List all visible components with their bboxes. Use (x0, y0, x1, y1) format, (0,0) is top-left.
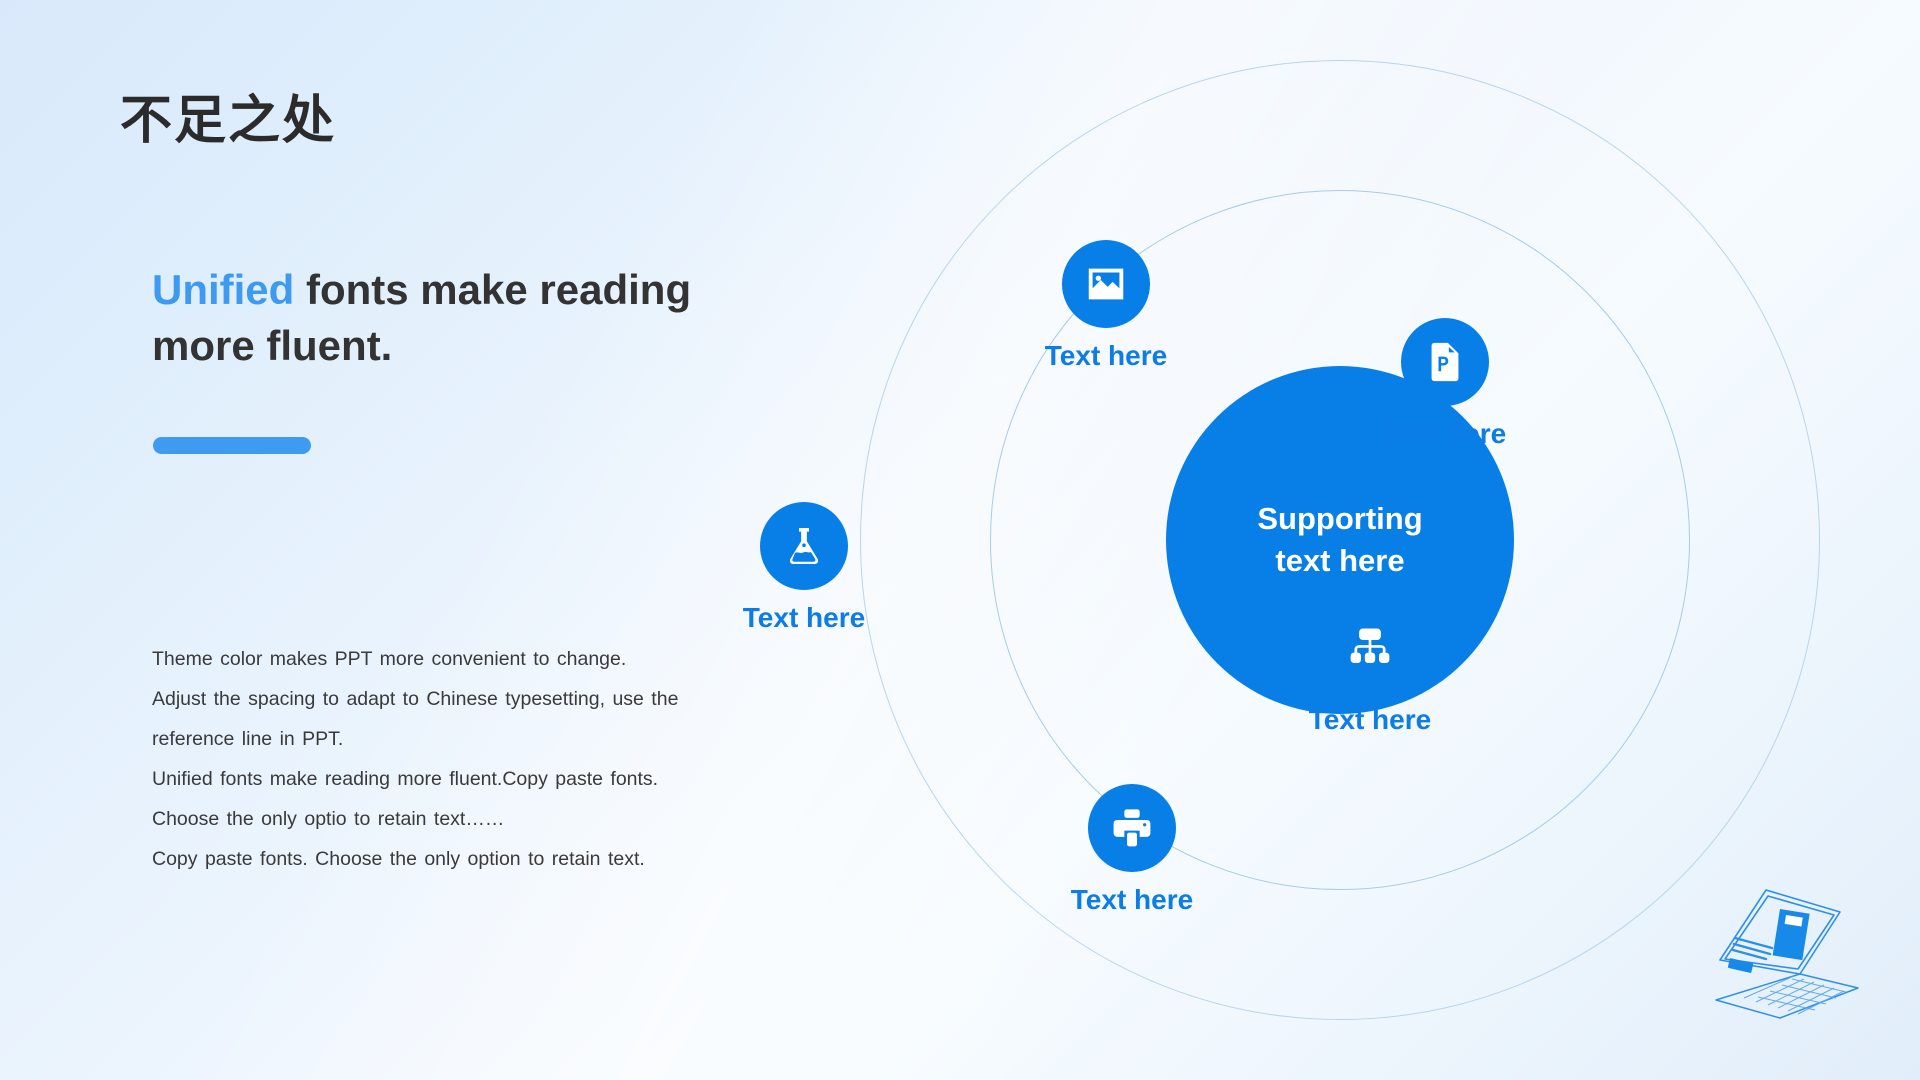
diagram-node-flask[interactable]: Text here (714, 502, 894, 634)
node-label: Text here (1265, 704, 1475, 736)
ppt-file-icon (1401, 318, 1489, 406)
body-paragraph-2: Adjust the spacing to adapt to Chinese t… (152, 680, 722, 760)
core-label: Supporting text here (1257, 498, 1422, 582)
laptop-illustration (1708, 882, 1868, 1022)
flask-icon (760, 502, 848, 590)
diagram-node-sitemap[interactable]: Text here (1265, 604, 1475, 736)
accent-divider-bar (153, 437, 311, 454)
diagram-node-ppt-file[interactable]: Text here (1340, 318, 1550, 450)
left-content-column: 不足之处 Unified fonts make reading more flu… (0, 0, 760, 1080)
printer-icon (1088, 784, 1176, 872)
body-paragraph-4: Copy paste fonts. Choose the only option… (152, 840, 722, 880)
body-copy: Theme color makes PPT more convenient to… (152, 640, 722, 880)
headline: Unified fonts make reading more fluent. (152, 262, 732, 374)
node-label: Text here (714, 602, 894, 634)
sitemap-icon (1326, 604, 1414, 692)
diagram-node-image[interactable]: Text here (1016, 240, 1196, 372)
headline-accent-word: Unified (152, 266, 294, 313)
body-paragraph-1: Theme color makes PPT more convenient to… (152, 640, 722, 680)
node-label: Text here (1016, 340, 1196, 372)
image-icon (1062, 240, 1150, 328)
page-title: 不足之处 (120, 78, 336, 153)
node-label: Text here (1042, 884, 1222, 916)
body-paragraph-3: Unified fonts make reading more fluent.C… (152, 760, 722, 840)
node-label: Text here (1340, 418, 1550, 450)
diagram-node-printer[interactable]: Text here (1042, 784, 1222, 916)
